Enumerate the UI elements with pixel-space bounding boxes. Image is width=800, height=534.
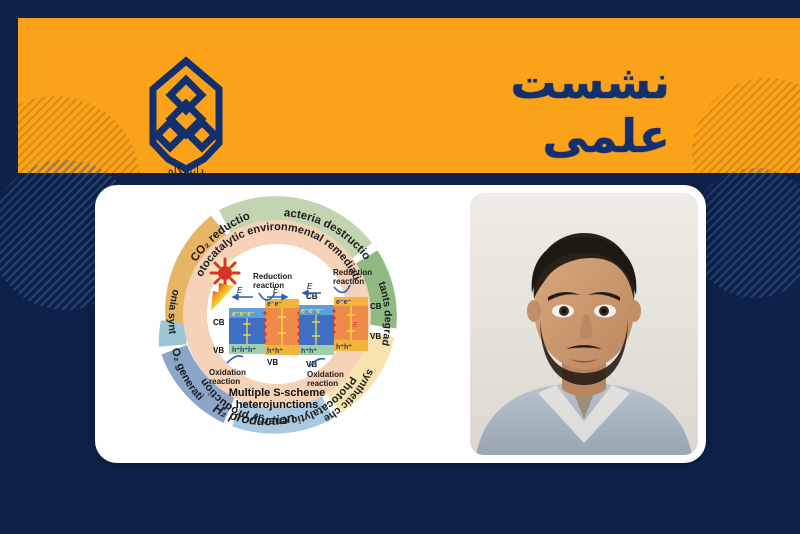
svg-text:h⁺h⁺: h⁺h⁺ [336, 344, 352, 351]
svg-text:E: E [237, 286, 243, 295]
svg-text:h⁺h⁺h⁺: h⁺h⁺h⁺ [232, 347, 256, 354]
svg-text:e⁻e⁻e⁻: e⁻e⁻e⁻ [301, 308, 324, 315]
figure-caption-line1: Multiple S-scheme [229, 387, 326, 399]
svg-text:h⁺h⁺: h⁺h⁺ [301, 348, 317, 355]
semiconductor-block-2: e⁻e⁻ h⁺h⁺ [263, 299, 300, 355]
calligraphy-text: نشست علمی [410, 55, 670, 163]
reduction-reaction-label-1: Reduction [253, 272, 292, 281]
semiconductor-block-3: e⁻e⁻e⁻ h⁺h⁺ [299, 305, 334, 355]
svg-text:h⁺h⁺: h⁺h⁺ [267, 348, 283, 355]
speaker-portrait [470, 193, 698, 455]
svg-text:e⁻e⁻e⁻: e⁻e⁻e⁻ [232, 311, 255, 318]
svg-text:e⁻e⁻: e⁻e⁻ [336, 299, 351, 306]
svg-text:E: E [353, 322, 358, 329]
semiconductor-block-4: e⁻e⁻ h⁺h⁺ E [332, 297, 368, 351]
figure-caption-line2: heterojunctions [236, 399, 319, 411]
svg-text:e⁻e⁻: e⁻e⁻ [267, 301, 282, 308]
svg-text:reaction: reaction [333, 277, 364, 286]
header-banner: دانشگاه نشست علمی [18, 18, 800, 173]
svg-text:reaction: reaction [253, 281, 284, 290]
semiconductor-block-1: e⁻e⁻e⁻ h⁺h⁺h⁺ [229, 308, 265, 354]
university-logo: دانشگاه [140, 51, 232, 173]
oxidation-reaction-label-1: Oxidation [209, 368, 246, 377]
photocatalysis-figure: CO₂ reduction Bacteria destruction Pollu… [101, 187, 453, 461]
reduction-reaction-label-2: Reduction [333, 268, 372, 277]
vb-label-2: VB [267, 358, 278, 367]
striped-circle-decoration-right [692, 78, 800, 173]
striped-circle-body-right [690, 168, 800, 298]
cb-label-1: CB [213, 318, 225, 327]
svg-text:reaction: reaction [209, 377, 240, 386]
vb-label-4: VB [370, 332, 381, 341]
vb-label-1: VB [213, 346, 224, 355]
logo-script-text: دانشگاه [140, 164, 232, 173]
poster-root: دانشگاه نشست علمی [0, 0, 800, 534]
cb-label-4: CB [370, 302, 382, 311]
oxidation-reaction-label-2: Oxidation [307, 370, 344, 379]
calligraphy-heading: نشست علمی [410, 46, 670, 171]
svg-text:E: E [307, 282, 313, 291]
content-card: CO₂ reduction Bacteria destruction Pollu… [95, 185, 706, 463]
label-ammonia-synthesis: Ammonia synthesis [101, 187, 182, 335]
